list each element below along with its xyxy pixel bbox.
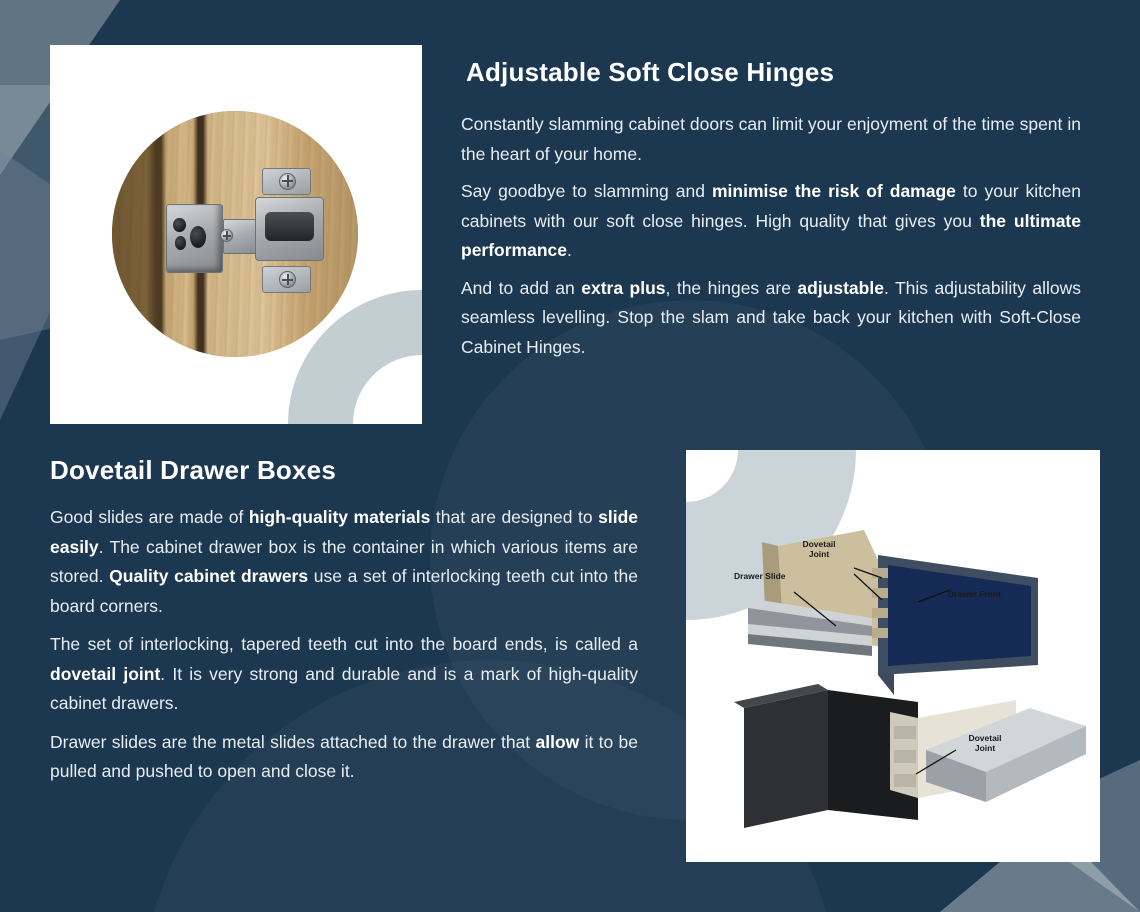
emphasis-text: dovetail joint [50,664,160,684]
body-text: Drawer slides are the metal slides attac… [50,732,535,752]
emphasis-text: high-quality materials [249,507,431,527]
dovetail-pin [872,568,888,578]
dovetail-joint-label-bottom: Dovetail Joint [954,734,1016,754]
soft-close-damper [265,212,314,242]
hinge-section-body: Constantly slamming cabinet doors can li… [461,110,1081,362]
body-text: Good slides are made of [50,507,249,527]
dovetail-image-card: Drawer Slide Dovetail Joint Drawer Front… [686,450,1100,862]
dark-board-face [744,690,828,828]
dovetail-tail [894,726,916,739]
dovetail-pin [872,628,888,638]
hinge-section-heading: Adjustable Soft Close Hinges [466,57,834,88]
paragraph: And to add an extra plus, the hinges are… [461,274,1081,363]
hinge-image-card [50,45,422,424]
screw-top [279,173,296,190]
dovetail-pin [872,608,888,618]
paragraph: The set of interlocking, tapered teeth c… [50,630,638,719]
emphasis-text: allow [535,732,579,752]
body-text: The set of interlocking, tapered teeth c… [50,634,638,654]
dovetail-section-heading: Dovetail Drawer Boxes [50,455,336,486]
dovetail-joint-label-top: Dovetail Joint [786,540,852,560]
drawer-slide-label: Drawer Slide [734,572,786,582]
dovetail-tail [894,750,916,763]
hinge-cup [166,204,223,273]
paragraph: Say goodbye to slamming and minimise the… [461,177,1081,266]
body-text: Say goodbye to slamming and [461,181,712,201]
emphasis-text: extra plus [581,278,665,298]
dovetail-tail [894,774,916,787]
paragraph: Drawer slides are the metal slides attac… [50,728,638,787]
paragraph: Good slides are made of high-quality mat… [50,503,638,621]
emphasis-text: Quality cabinet drawers [109,566,308,586]
drawer-front-label: Drawer Front [948,590,1001,600]
paragraph: Constantly slamming cabinet doors can li… [461,110,1081,169]
body-text: And to add an [461,278,581,298]
body-text: . [567,240,572,260]
slide-canvas: Adjustable Soft Close Hinges Constantly … [0,0,1140,912]
body-text: that are designed to [430,507,598,527]
body-text: , the hinges are [666,278,798,298]
hinge-photo [112,111,358,357]
emphasis-text: adjustable [797,278,884,298]
body-text: Constantly slamming cabinet doors can li… [461,114,1081,164]
emphasis-text: minimise the risk of damage [712,181,956,201]
dovetail-diagram: Drawer Slide Dovetail Joint Drawer Front… [686,450,1100,862]
dovetail-section-body: Good slides are made of high-quality mat… [50,503,638,787]
